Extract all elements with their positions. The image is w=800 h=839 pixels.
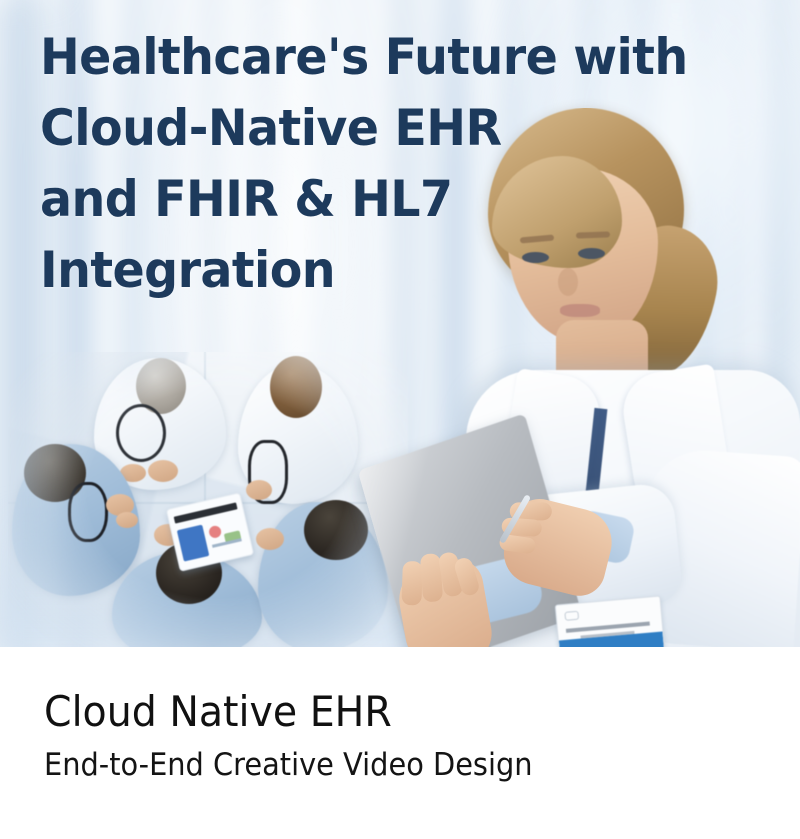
headline-line-3: and FHIR & HL7 bbox=[40, 164, 715, 235]
finger bbox=[401, 561, 423, 606]
badge-slot bbox=[564, 611, 579, 621]
headline-line-4: Integration bbox=[40, 235, 715, 306]
badge-text-line bbox=[566, 622, 650, 633]
id-badge bbox=[555, 595, 666, 647]
headline: Healthcare's Future with Cloud-Native EH… bbox=[40, 22, 750, 306]
headline-line-2: Cloud-Native EHR bbox=[40, 93, 715, 164]
group-photo-softening bbox=[2, 346, 414, 647]
video-thumbnail-card: Healthcare's Future with Cloud-Native EH… bbox=[0, 0, 800, 839]
hero-image: Healthcare's Future with Cloud-Native EH… bbox=[0, 0, 800, 647]
headline-line-1: Healthcare's Future with bbox=[40, 22, 715, 93]
group-photo-medical-team bbox=[8, 352, 408, 647]
caption-area: Cloud Native EHR End-to-End Creative Vid… bbox=[0, 647, 800, 839]
caption-title: Cloud Native EHR bbox=[44, 687, 392, 736]
caption-subtitle: End-to-End Creative Video Design bbox=[44, 747, 533, 783]
